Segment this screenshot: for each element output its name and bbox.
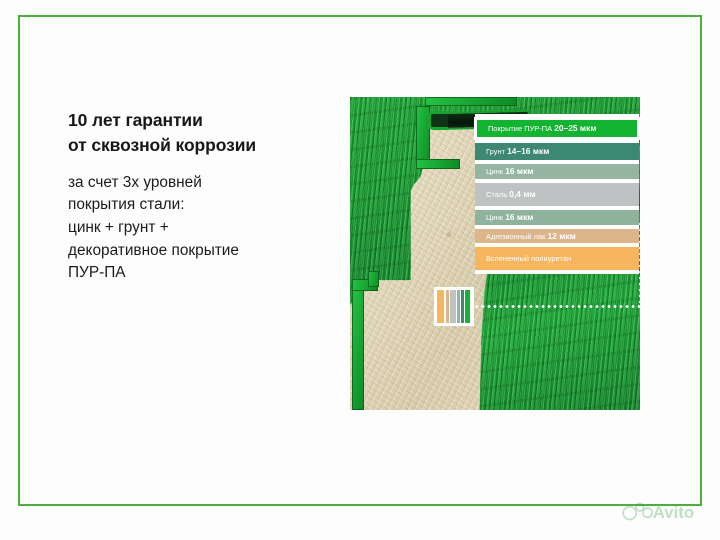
legend-row: Адгезионный лак 12 мкм (475, 229, 639, 243)
avito-watermark: Avito (622, 498, 706, 524)
callout-leader-line-horizontal (474, 305, 640, 308)
legend-row-label: Адгезионный лак 12 мкм (486, 232, 576, 240)
layer-stack-callout (434, 287, 474, 326)
layers-legend: Покрытие ПУР-ПА 20–25 мкмГрунт 14–16 мкм… (475, 114, 639, 274)
legend-row-label: Грунт 14–16 мкм (486, 147, 549, 155)
panel-rim-top (425, 97, 517, 106)
page-subtitle: за счет 3х уровней покрытия стали: цинк … (68, 172, 326, 285)
callout-leader-line-vertical (639, 221, 640, 307)
legend-row-value: 12 мкм (548, 231, 576, 241)
legend-row: Вспененный полиуретан (475, 247, 639, 270)
callout-stripe (465, 290, 470, 323)
slide-root: 10 лет гарантии от сквозной коррозии за … (0, 0, 720, 540)
legend-row-label: Покрытие ПУР-ПА 20–25 мкм (488, 124, 597, 132)
text-column: 10 лет гарантии от сквозной коррозии за … (68, 108, 326, 285)
page-title: 10 лет гарантии от сквозной коррозии (68, 108, 326, 158)
legend-row-value: 16 мкм (505, 166, 533, 176)
legend-row-label: Сталь 0,4 мм (486, 190, 536, 198)
legend-row-label: Цинк 16 мкм (486, 213, 533, 221)
legend-row-label: Вспененный полиуретан (486, 255, 571, 262)
legend-row: Цинк 16 мкм (475, 210, 639, 225)
callout-stripe (437, 290, 444, 323)
legend-row: Цинк 16 мкм (475, 164, 639, 179)
legend-row: Покрытие ПУР-ПА 20–25 мкм (475, 118, 639, 139)
legend-row-value: 16 мкм (505, 212, 533, 222)
legend-row: Сталь 0,4 мм (475, 183, 639, 206)
legend-row-label: Цинк 16 мкм (486, 167, 533, 175)
avito-wordmark: Avito (653, 503, 694, 522)
legend-row-value: 20–25 мкм (554, 123, 596, 133)
panel-rim-left (352, 287, 364, 410)
legend-row: Грунт 14–16 мкм (475, 143, 639, 160)
panel-rim-step-vertical (368, 271, 379, 287)
legend-row-value: 0,4 мм (509, 189, 535, 199)
legend-row-value: 14–16 мкм (507, 146, 549, 156)
panel-seam-cap (428, 111, 448, 130)
panel-rim-notch (416, 159, 460, 169)
